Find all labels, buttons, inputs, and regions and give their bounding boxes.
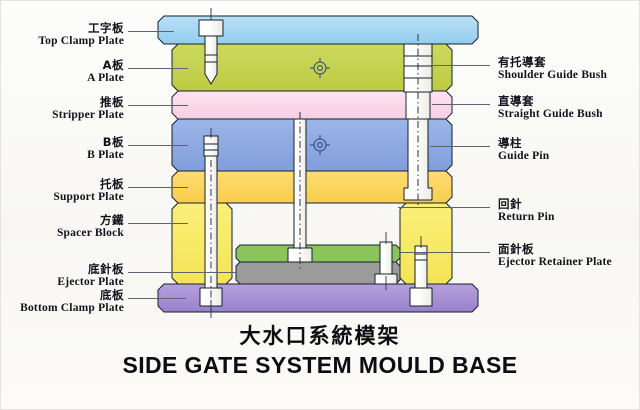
leader-b-plate (128, 145, 188, 146)
leader-ejector-plate (128, 272, 236, 273)
page-title-english: SIDE GATE SYSTEM MOULD BASE (0, 352, 640, 379)
diagram-page: 工字板 Top Clamp Plate A板 A Plate 推板 Stripp… (0, 0, 640, 410)
label-ejector-plate: 底針板 Ejector Plate (57, 263, 124, 289)
leader-return-pin (398, 207, 490, 208)
label-stripper-plate-cn: 推板 (52, 96, 124, 109)
label-bottom-clamp-plate-en: Bottom Clamp Plate (20, 302, 124, 315)
label-stripper-plate-en: Stripper Plate (52, 109, 124, 122)
label-a-plate-cn: A板 (87, 59, 124, 72)
return-pin-mid-shaft (380, 242, 392, 274)
label-a-plate-en: A Plate (87, 72, 124, 85)
leader-support-plate (128, 187, 188, 188)
label-support-plate-en: Support Plate (53, 191, 124, 204)
label-guide-pin-cn: 導柱 (498, 137, 549, 150)
label-return-pin-cn: 回針 (498, 198, 555, 211)
label-ejector-retainer-plate-cn: 面針板 (498, 243, 612, 256)
page-title-chinese: 大水口系統模架 (0, 320, 640, 350)
leader-stripper-plate (128, 105, 188, 106)
label-return-pin-en: Return Pin (498, 211, 555, 224)
leader-spacer-block (128, 223, 188, 224)
label-shoulder-guide-bush-cn: 有托導套 (498, 56, 607, 69)
leader-ejector-retainer-plate (400, 252, 490, 253)
label-a-plate: A板 A Plate (87, 59, 124, 85)
label-support-plate: 托板 Support Plate (53, 178, 124, 204)
leader-shoulder-guide-bush (432, 65, 490, 66)
label-stripper-plate: 推板 Stripper Plate (52, 96, 124, 122)
label-b-plate-en: B Plate (87, 149, 124, 162)
label-spacer-block-cn: 方鐵 (57, 214, 124, 227)
cap-screw-head (199, 20, 223, 36)
label-straight-guide-bush-cn: 直導套 (498, 95, 603, 108)
page-title: 大水口系統模架 SIDE GATE SYSTEM MOULD BASE (0, 320, 640, 379)
label-return-pin: 回針 Return Pin (498, 198, 555, 224)
label-ejector-plate-en: Ejector Plate (57, 276, 124, 289)
label-spacer-block: 方鐵 Spacer Block (57, 214, 124, 240)
label-shoulder-guide-bush-en: Shoulder Guide Bush (498, 69, 607, 82)
label-guide-pin: 導柱 Guide Pin (498, 137, 549, 163)
label-b-plate: B板 B Plate (87, 136, 124, 162)
leader-top-clamp-plate (128, 31, 174, 32)
ejector-pin-head (204, 136, 218, 156)
cap-screw-shank (205, 36, 217, 84)
label-bottom-clamp-plate-cn: 底板 (20, 289, 124, 302)
return-pin-right-foot (410, 288, 432, 306)
leader-bottom-clamp-plate (128, 298, 186, 299)
label-straight-guide-bush: 直導套 Straight Guide Bush (498, 95, 603, 121)
label-bottom-clamp-plate: 底板 Bottom Clamp Plate (20, 289, 124, 315)
leader-straight-guide-bush (432, 104, 490, 105)
label-spacer-block-en: Spacer Block (57, 227, 124, 240)
label-ejector-plate-cn: 底針板 (57, 263, 124, 276)
label-top-clamp-plate-en: Top Clamp Plate (38, 35, 124, 48)
label-ejector-retainer-plate-en: Ejector Retainer Plate (498, 256, 612, 269)
label-top-clamp-plate-cn: 工字板 (38, 22, 124, 35)
label-b-plate-cn: B板 (87, 136, 124, 149)
label-shoulder-guide-bush: 有托導套 Shoulder Guide Bush (498, 56, 607, 82)
label-guide-pin-en: Guide Pin (498, 150, 549, 163)
leader-a-plate (128, 68, 188, 69)
leader-guide-pin (430, 146, 490, 147)
label-top-clamp-plate: 工字板 Top Clamp Plate (38, 22, 124, 48)
label-straight-guide-bush-en: Straight Guide Bush (498, 108, 603, 121)
label-support-plate-cn: 托板 (53, 178, 124, 191)
ejector-retainer-plate-green (236, 245, 400, 262)
label-ejector-retainer-plate: 面針板 Ejector Retainer Plate (498, 243, 612, 269)
